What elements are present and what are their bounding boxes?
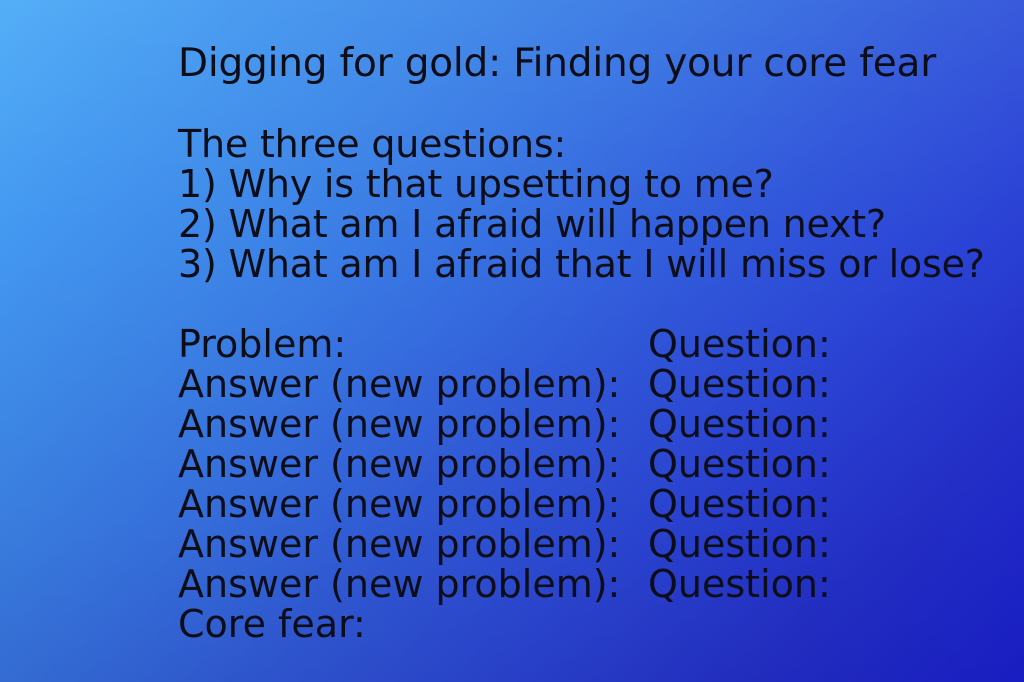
questions-heading: The three questions: [178, 124, 1024, 164]
worksheet-left-label: Answer (new problem): [178, 524, 648, 564]
table-row: Answer (new problem): Question: [178, 524, 1024, 564]
worksheet-right-label: Question: [648, 484, 831, 524]
question-item-2: 2) What am I afraid will happen next? [178, 204, 1024, 244]
worksheet-right-label: Question: [648, 524, 831, 564]
table-row: Answer (new problem): Question: [178, 444, 1024, 484]
worksheet-right-label: Question: [648, 364, 831, 404]
slide-title: Digging for gold: Finding your core fear [178, 44, 1024, 84]
worksheet-left-label: Problem: [178, 324, 648, 364]
worksheet-left-label: Answer (new problem): [178, 564, 648, 604]
worksheet-left-label: Core fear: [178, 604, 648, 644]
slide-canvas: Digging for gold: Finding your core fear… [0, 0, 1024, 682]
question-item-1: 1) Why is that upsetting to me? [178, 164, 1024, 204]
worksheet-right-label: Question: [648, 404, 831, 444]
table-row: Answer (new problem): Question: [178, 484, 1024, 524]
three-questions-block: The three questions: 1) Why is that upse… [178, 124, 1024, 284]
slide-content: Digging for gold: Finding your core fear… [178, 44, 1024, 644]
worksheet-right-label: Question: [648, 324, 831, 364]
worksheet-table: Problem: Question: Answer (new problem):… [178, 324, 1024, 644]
worksheet-left-label: Answer (new problem): [178, 444, 648, 484]
table-row: Problem: Question: [178, 324, 1024, 364]
table-row: Answer (new problem): Question: [178, 364, 1024, 404]
worksheet-right-label: Question: [648, 444, 831, 484]
question-item-3: 3) What am I afraid that I will miss or … [178, 244, 1024, 284]
worksheet-left-label: Answer (new problem): [178, 484, 648, 524]
table-row: Core fear: [178, 604, 1024, 644]
worksheet-left-label: Answer (new problem): [178, 404, 648, 444]
worksheet-left-label: Answer (new problem): [178, 364, 648, 404]
table-row: Answer (new problem): Question: [178, 404, 1024, 444]
table-row: Answer (new problem): Question: [178, 564, 1024, 604]
worksheet-right-label: Question: [648, 564, 831, 604]
